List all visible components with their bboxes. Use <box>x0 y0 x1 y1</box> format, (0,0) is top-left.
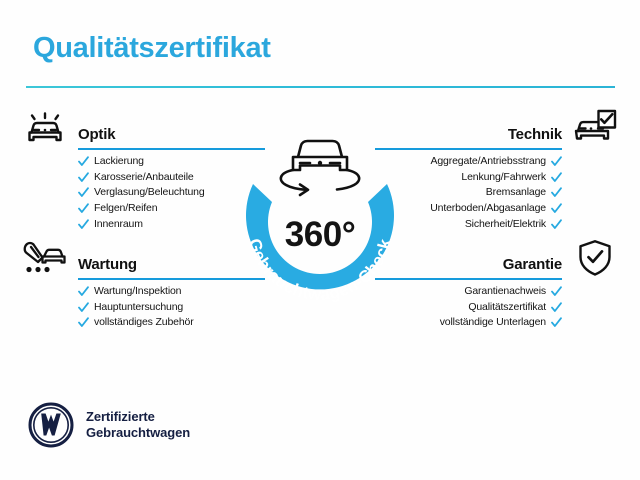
check-icon <box>78 302 89 313</box>
list-item-label: Aggregate/Antriebsstrang <box>431 155 546 168</box>
list-item-label: Unterboden/Abgasanlage <box>430 202 546 215</box>
check-icon <box>78 203 89 214</box>
check-icon <box>551 286 562 297</box>
check-icon <box>78 156 89 167</box>
section-optik-title: Optik <box>78 126 115 143</box>
check-icon <box>551 302 562 313</box>
footer-line-2: Gebrauchtwagen <box>86 425 190 441</box>
check-icon <box>551 172 562 183</box>
car-rotate-360-icon <box>281 141 359 195</box>
title-divider <box>26 86 615 88</box>
section-garantie-title: Garantie <box>503 256 562 273</box>
check-icon <box>78 172 89 183</box>
check-icon <box>78 187 89 198</box>
list-item-label: Hauptuntersuchung <box>94 301 183 314</box>
list-item-label: vollständiges Zubehör <box>94 316 194 329</box>
check-icon <box>78 286 89 297</box>
check-icon <box>78 219 89 230</box>
check-icon <box>551 156 562 167</box>
list-item-label: Innenraum <box>94 218 143 231</box>
footer-brand: Zertifizierte Gebrauchtwagen <box>28 402 190 448</box>
list-item-label: Lackierung <box>94 155 144 168</box>
section-technik-title: Technik <box>508 126 562 143</box>
list-item-label: Felgen/Reifen <box>94 202 157 215</box>
list-item-label: vollständige Unterlagen <box>440 316 546 329</box>
shield-check-icon <box>572 238 618 278</box>
list-item-label: Bremsanlage <box>486 186 546 199</box>
page-title: Qualitätszertifikat <box>33 32 271 65</box>
list-item-label: Lenkung/Fahrwerk <box>461 171 546 184</box>
list-item-label: Qualitätszertifikat <box>468 301 546 314</box>
badge-360-gebrauchtwagen-check: Gebrauchtwagen-Check 360° <box>222 118 418 318</box>
check-icon <box>551 219 562 230</box>
check-icon <box>551 203 562 214</box>
section-wartung-title: Wartung <box>78 256 137 273</box>
footer-text: Zertifizierte Gebrauchtwagen <box>86 409 190 441</box>
list-item-label: Wartung/Inspektion <box>94 285 181 298</box>
list-item-label: Garantienachweis <box>464 285 546 298</box>
car-service-wrench-icon <box>22 238 68 278</box>
list-item-label: Sicherheit/Elektrik <box>465 218 546 231</box>
list-item-label: Verglasung/Beleuchtung <box>94 186 205 199</box>
check-icon <box>78 317 89 328</box>
check-icon <box>551 317 562 328</box>
badge-degrees-label: 360° <box>222 215 418 255</box>
vw-logo <box>28 402 74 448</box>
list-item-label: Karosserie/Anbauteile <box>94 171 194 184</box>
certificate-page: Qualitätszertifikat <box>0 0 640 480</box>
footer-line-1: Zertifizierte <box>86 409 190 425</box>
car-sparkle-icon <box>22 108 68 148</box>
check-icon <box>551 187 562 198</box>
car-checkbox-icon <box>572 108 618 148</box>
